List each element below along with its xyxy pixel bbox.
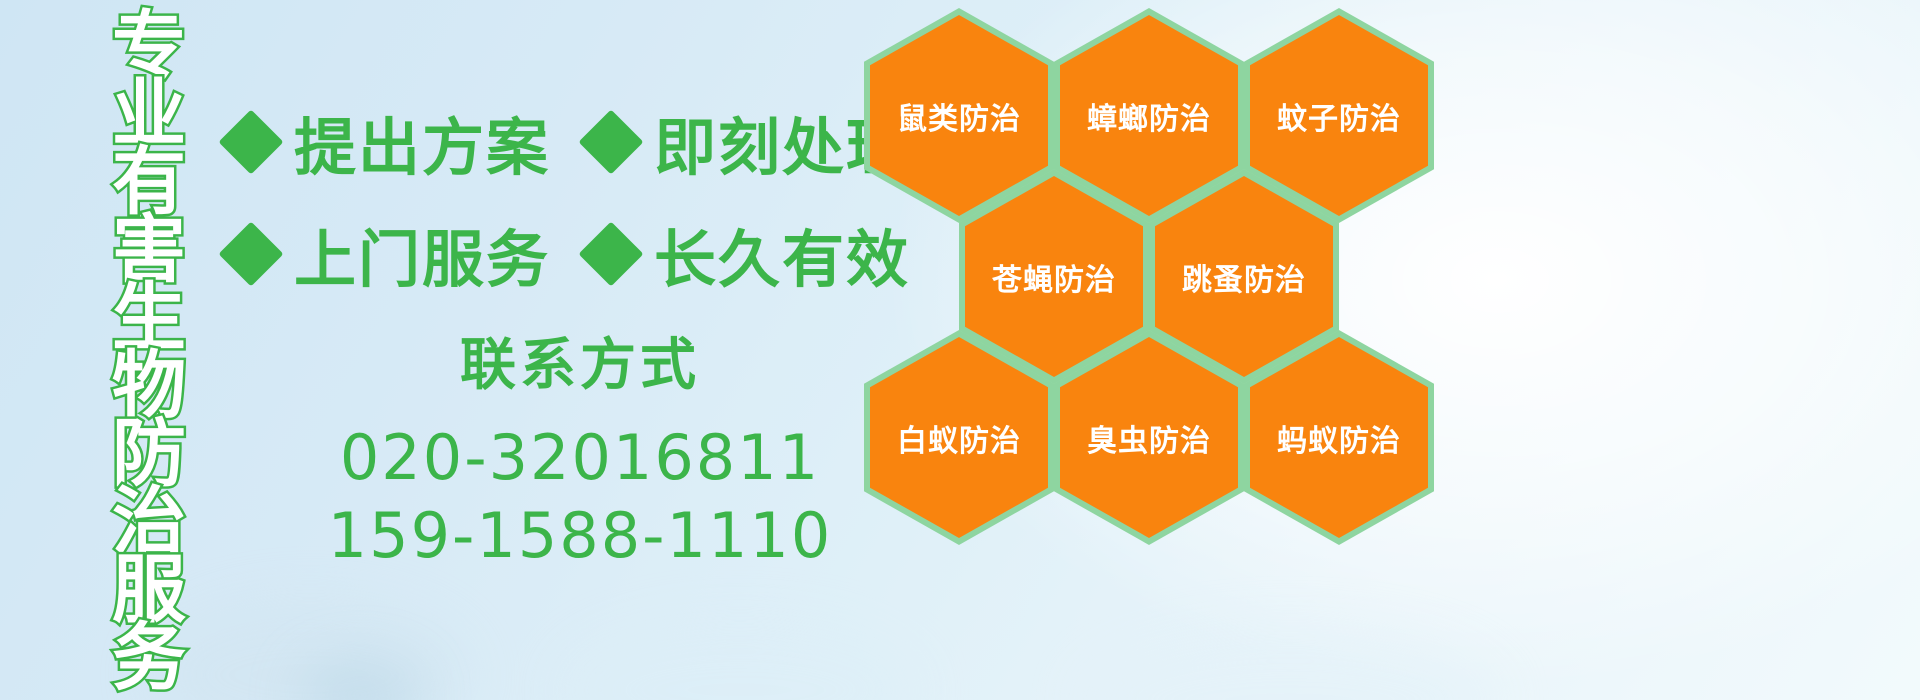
hex-label: 跳蚤防治 bbox=[1182, 255, 1306, 299]
feature-item-propose-plan: 提出方案 bbox=[228, 97, 550, 187]
hex-label: 蚊子防治 bbox=[1277, 94, 1401, 138]
contact-block: 联系方式 020-32016811 159-1588-1110 bbox=[300, 320, 860, 575]
vertical-headline-char: 防 bbox=[112, 420, 186, 488]
hex-label: 鼠类防治 bbox=[897, 94, 1021, 138]
hex-inner: 白蚁防治 bbox=[870, 337, 1048, 538]
hex-inner: 蚊子防治 bbox=[1250, 15, 1428, 216]
diamond-icon bbox=[218, 221, 283, 286]
hex-inner: 鼠类防治 bbox=[870, 15, 1048, 216]
phone-number-mobile[interactable]: 159-1588-1110 bbox=[300, 497, 860, 575]
vertical-headline-char: 业 bbox=[112, 80, 186, 148]
vertical-headline-char: 生 bbox=[112, 284, 186, 352]
hex-label: 蟑螂防治 bbox=[1087, 94, 1211, 138]
hex-inner: 蚂蚁防治 bbox=[1250, 337, 1428, 538]
phone-number-landline[interactable]: 020-32016811 bbox=[300, 419, 860, 497]
hex-inner: 苍蝇防治 bbox=[965, 176, 1143, 377]
diamond-icon bbox=[578, 109, 643, 174]
hex-inner: 蟑螂防治 bbox=[1060, 15, 1238, 216]
hex-label: 苍蝇防治 bbox=[992, 255, 1116, 299]
vertical-headline-char: 专 bbox=[112, 12, 186, 80]
feature-row: 上门服务 长久有效 bbox=[228, 198, 868, 310]
vertical-headline-char: 物 bbox=[112, 352, 186, 420]
pest-control-banner: 专 业 有 害 生 物 防 治 服 务 提出方案 即刻处理 上门服务 bbox=[0, 0, 1920, 700]
vertical-headline-char: 治 bbox=[112, 488, 186, 556]
vertical-headline: 专 业 有 害 生 物 防 治 服 务 bbox=[103, 12, 195, 560]
vertical-headline-char: 害 bbox=[112, 216, 186, 284]
background-blob bbox=[150, 600, 470, 700]
feature-list: 提出方案 即刻处理 上门服务 长久有效 bbox=[228, 86, 868, 310]
diamond-icon bbox=[218, 109, 283, 174]
feature-row: 提出方案 即刻处理 bbox=[228, 86, 868, 198]
feature-label: 上门服务 bbox=[294, 209, 550, 299]
feature-item-onsite-service: 上门服务 bbox=[228, 209, 550, 299]
hex-inner: 臭虫防治 bbox=[1060, 337, 1238, 538]
vertical-headline-char: 有 bbox=[112, 148, 186, 216]
background-blob bbox=[560, 620, 920, 700]
diamond-icon bbox=[578, 221, 643, 286]
background-blob bbox=[300, 660, 420, 700]
hex-label: 蚂蚁防治 bbox=[1277, 416, 1401, 460]
vertical-headline-char: 服 bbox=[112, 556, 186, 624]
contact-heading: 联系方式 bbox=[300, 320, 860, 401]
hex-label: 臭虫防治 bbox=[1087, 416, 1211, 460]
background-blob bbox=[1080, 630, 1500, 700]
hex-label: 白蚁防治 bbox=[897, 416, 1021, 460]
hex-inner: 跳蚤防治 bbox=[1155, 176, 1333, 377]
service-hexagon-grid: 鼠类防治 蟑螂防治 蚊子防治 苍蝇防治 跳蚤防治 白蚁防治 bbox=[860, 0, 1460, 570]
feature-label: 提出方案 bbox=[294, 97, 550, 187]
vertical-headline-char: 务 bbox=[112, 624, 186, 692]
